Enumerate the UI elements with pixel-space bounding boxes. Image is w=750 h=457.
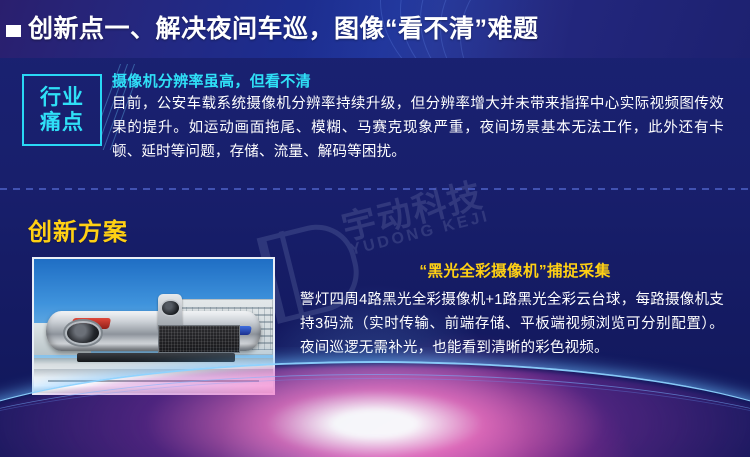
watermark-en: YUDONG KEJI [348, 208, 491, 260]
photo-ptz-lens [162, 301, 179, 316]
page-title: 创新点一、解决夜间车巡，图像“看不清”难题 [28, 10, 539, 48]
square-bullet-icon [6, 25, 21, 37]
photo-camera-lens [67, 323, 98, 343]
pain-point-body: 目前，公安车载系统摄像机分辨率持续升级，但分辨率增大并未带来指挥中心实际视频图传… [112, 92, 724, 164]
pain-point-section: 行业 痛点 摄像机分辨率虽高，但看不清 目前，公安车载系统摄像机分辨率持续升级，… [0, 58, 750, 183]
bottom-light-sweep [0, 347, 750, 457]
slide-root: 创新点一、解决夜间车巡，图像“看不清”难题 宇动科技 YUDONG KEJI 行… [0, 0, 750, 457]
solution-title: 创新方案 [28, 212, 128, 247]
solution-heading: “黑光全彩摄像机”捕捉采集 [300, 259, 730, 281]
section-divider [0, 188, 750, 190]
pain-point-badge: 行业 痛点 [22, 74, 102, 146]
pain-point-badge-line1: 行业 [40, 85, 84, 110]
pain-point-heading: 摄像机分辨率虽高，但看不清 [112, 70, 311, 91]
sweep-arc-inner [0, 361, 750, 457]
pain-point-badge-line2: 痛点 [40, 110, 84, 135]
